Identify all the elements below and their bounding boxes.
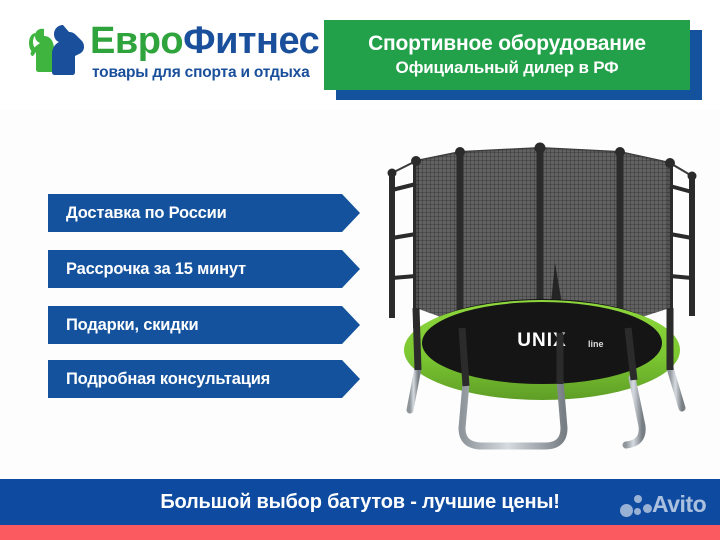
avito-watermark: Avito <box>618 492 714 522</box>
feature-arrow-consultation: Подробная консультация <box>48 360 360 398</box>
brand-word-blue: Фитнес <box>183 20 319 62</box>
two-athletes-icon <box>22 20 90 82</box>
footer-red-strip <box>0 525 720 540</box>
feature-label: Рассрочка за 15 минут <box>48 260 246 279</box>
footer-slogan: Большой выбор батутов - лучшие цены! <box>160 491 559 514</box>
avito-dot <box>620 504 633 517</box>
avito-dot <box>634 495 642 503</box>
brand-tagline: товары для спорта и отдыха <box>92 64 327 82</box>
avito-wordmark: Avito <box>652 491 706 518</box>
avito-dot <box>634 508 641 515</box>
feature-label: Подарки, скидки <box>48 316 198 335</box>
feature-arrow-delivery: Доставка по России <box>48 194 360 232</box>
svg-text:line: line <box>588 339 604 349</box>
product-photo-trampoline: UNIX line <box>370 128 710 468</box>
feature-arrow-installment: Рассрочка за 15 минут <box>48 250 360 288</box>
brand-logo: ЕвроФитнес товары для спорта и отдыха <box>22 18 322 90</box>
header: ЕвроФитнес товары для спорта и отдыха Сп… <box>0 0 720 110</box>
feature-arrow-gifts: Подарки, скидки <box>48 306 360 344</box>
green-banner-line2: Официальный дилер в РФ <box>396 58 619 78</box>
brand-wordmark: ЕвроФитнес <box>90 18 325 64</box>
footer-banner: Большой выбор батутов - лучшие цены! <box>0 479 720 525</box>
brand-word-green: Евро <box>90 20 183 62</box>
green-banner-line1: Спортивное оборудование <box>368 32 646 56</box>
feature-label: Доставка по России <box>48 204 227 223</box>
feature-label: Подробная консультация <box>48 370 270 389</box>
green-banner: Спортивное оборудование Официальный диле… <box>324 20 690 90</box>
avito-dot <box>643 504 652 513</box>
promo-image: ЕвроФитнес товары для спорта и отдыха Сп… <box>0 0 720 540</box>
